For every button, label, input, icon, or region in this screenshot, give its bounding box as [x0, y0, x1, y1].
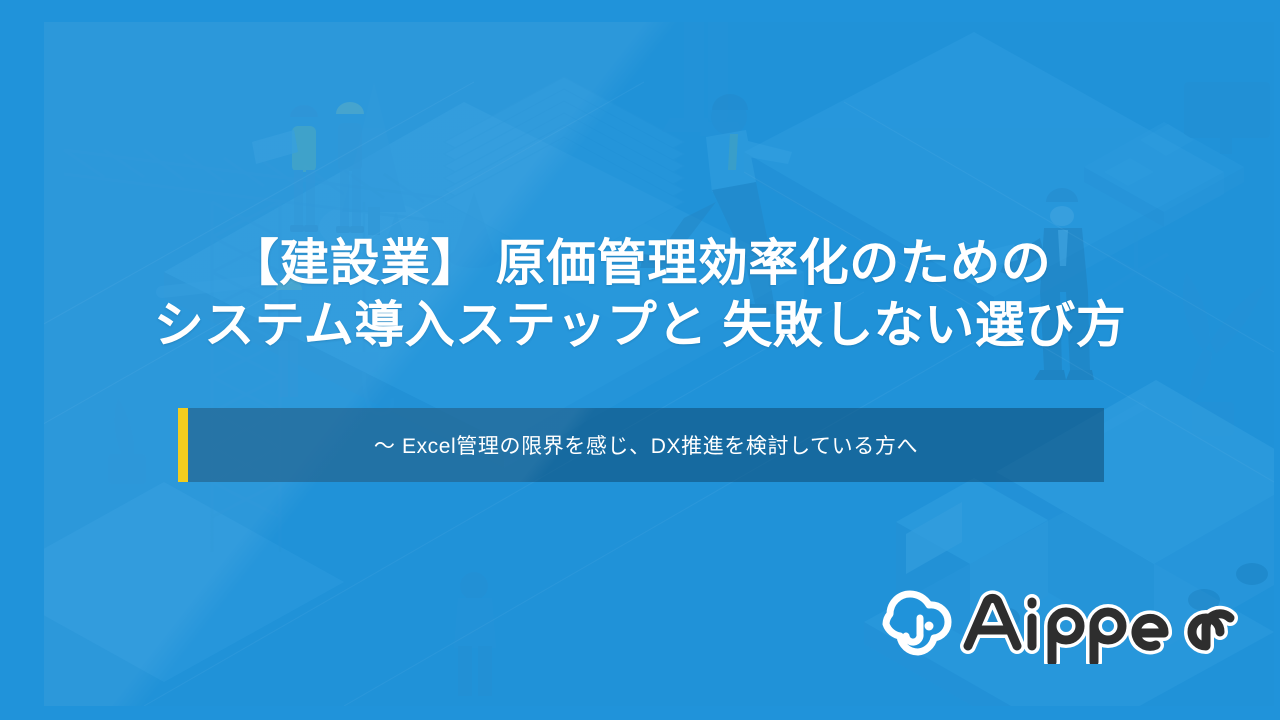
aippear-logo-svg: [860, 578, 1240, 664]
aippear-logo: [860, 578, 1240, 664]
subtitle-text: ～ Excel管理の限界を感じ、DX推進を検討している方へ: [374, 430, 918, 460]
title-line-1: 【建設業】 原価管理効率化のための: [0, 232, 1280, 294]
presentation-slide: 【建設業】 原価管理効率化のための システム導入ステップと 失敗しない選び方 ～…: [0, 0, 1280, 720]
title-line-2: システム導入ステップと 失敗しない選び方: [0, 294, 1280, 356]
slide-content: 【建設業】 原価管理効率化のための システム導入ステップと 失敗しない選び方 ～…: [0, 0, 1280, 720]
subtitle-accent-bar: [178, 408, 188, 482]
page-title: 【建設業】 原価管理効率化のための システム導入ステップと 失敗しない選び方: [0, 232, 1280, 356]
subtitle-banner: ～ Excel管理の限界を感じ、DX推進を検討している方へ: [178, 408, 1104, 482]
aippear-wordmark: [968, 598, 1230, 662]
cloud-mark-icon: [886, 594, 948, 652]
subtitle-panel: ～ Excel管理の限界を感じ、DX推進を検討している方へ: [188, 408, 1104, 482]
